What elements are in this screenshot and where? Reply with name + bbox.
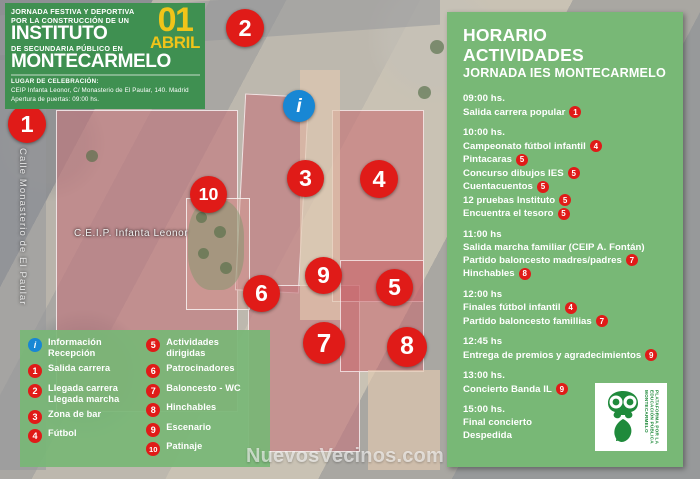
owl-leaf-icon <box>604 389 642 445</box>
schedule-item-label: Entrega de premios y agradecimientos <box>463 350 641 361</box>
legend-badge-8: 8 <box>146 403 160 417</box>
schedule-item: 12 pruebas Instituto5 <box>463 194 671 206</box>
legend-badge-i: i <box>28 338 42 352</box>
schedule-group-2: 11:00 hsSalida marcha familiar (CEIP A. … <box>463 229 671 280</box>
legend-item-8: 8Hinchables <box>146 402 262 417</box>
schedule-item-label: Finales fútbol infantil <box>463 302 561 313</box>
schedule-item-badge-1: 1 <box>569 106 581 118</box>
header-montecarmelo: MONTECARMELO <box>11 53 148 72</box>
schedule-item-badge-5: 5 <box>516 154 528 166</box>
schedule-item-label: Hinchables <box>463 268 515 279</box>
venue-address: CEIP Infanta Leonor, C/ Monasterio de El… <box>11 87 200 96</box>
schedule-item-badge-9: 9 <box>556 383 568 395</box>
map-marker-9[interactable]: 9 <box>305 257 342 294</box>
map-tree <box>198 248 209 259</box>
legend-label: Patinaje <box>166 441 202 452</box>
map-marker-10[interactable]: 10 <box>190 176 227 213</box>
venue-title: LUGAR DE CELEBRACIÓN: <box>11 78 200 87</box>
schedule-item-label: Salida marcha familiar (CEIP A. Fontán) <box>463 242 645 253</box>
organization-logo: MONTECARMELO EDUCACIÓN PÚBLICA PLATAFORM… <box>595 383 667 451</box>
schedule-item-label: Concierto Banda IL <box>463 384 552 395</box>
header-instituto: INSTITUTO <box>11 25 148 44</box>
legend-label: Escenario <box>166 422 211 433</box>
legend-item-10: 10Patinaje <box>146 441 262 456</box>
legend-badge-2: 2 <box>28 384 42 398</box>
legend-column-left: iInformaciónRecepción1Salida carrera2Lle… <box>28 337 138 460</box>
header-line-1: JORNADA FESTIVA Y DEPORTIVA <box>11 7 148 16</box>
schedule-time: 10:00 hs. <box>463 127 671 138</box>
schedule-item-badge-8: 8 <box>519 268 531 280</box>
schedule-time: 09:00 hs. <box>463 93 671 104</box>
schedule-item: Partido baloncesto madres/padres7 <box>463 254 671 266</box>
map-marker-i[interactable]: i <box>283 90 315 122</box>
schedule-item: Cuentacuentos5 <box>463 181 671 193</box>
schedule-group-0: 09:00 hs.Salida carrera popular1 <box>463 93 671 118</box>
schedule-item: Salida carrera popular1 <box>463 106 671 118</box>
header-divider <box>11 74 200 76</box>
legend-item-7: 7Baloncesto - WC <box>146 383 262 398</box>
schedule-item-label: 12 pruebas Instituto <box>463 195 555 206</box>
schedule-group-1: 10:00 hs.Campeonato fútbol infantil4Pint… <box>463 127 671 220</box>
legend-badge-5: 5 <box>146 338 160 352</box>
schedule-time: 12:45 hs <box>463 336 671 347</box>
legend-badge-1: 1 <box>28 364 42 378</box>
map-tree <box>430 40 444 54</box>
map-tree <box>220 262 232 274</box>
schedule-item-label: Partido baloncesto madres/padres <box>463 255 622 266</box>
legend-badge-7: 7 <box>146 384 160 398</box>
schedule-item-badge-4: 4 <box>565 302 577 314</box>
schedule-item: Campeonato fútbol infantil4 <box>463 140 671 152</box>
legend-item-6: 6Patrocinadores <box>146 363 262 378</box>
map-tree <box>214 226 226 238</box>
map-marker-6[interactable]: 6 <box>243 275 280 312</box>
legend-badge-6: 6 <box>146 364 160 378</box>
legend-item-2: 2Llegada carreraLlegada marcha <box>28 383 138 405</box>
schedule-item-label: Campeonato fútbol infantil <box>463 141 586 152</box>
map-marker-1[interactable]: 1 <box>8 105 46 143</box>
legend-label: Actividadesdirigidas <box>166 337 219 359</box>
schedule-time: 13:00 hs. <box>463 370 671 381</box>
legend-label: Zona de bar <box>48 409 101 420</box>
event-month: ABRIL <box>150 34 200 51</box>
map-marker-4[interactable]: 4 <box>360 160 398 198</box>
legend-badge-9: 9 <box>146 423 160 437</box>
map-tree <box>86 150 98 162</box>
schedule-item: Finales fútbol infantil4 <box>463 302 671 314</box>
map-marker-8[interactable]: 8 <box>387 327 427 367</box>
legend-item-5: 5Actividadesdirigidas <box>146 337 262 359</box>
logo-line-3: MONTECARMELO <box>644 390 649 444</box>
schedule-item-badge-7: 7 <box>596 315 608 327</box>
schedule-item-badge-5: 5 <box>559 194 571 206</box>
schedule-item: Concurso dibujos IES5 <box>463 167 671 179</box>
schedule-item-label: Salida carrera popular <box>463 107 565 118</box>
schedule-group-4: 12:45 hsEntrega de premios y agradecimie… <box>463 336 671 361</box>
schedule-item-badge-9: 9 <box>645 349 657 361</box>
schedule-item: Hinchables8 <box>463 268 671 280</box>
legend-badge-4: 4 <box>28 429 42 443</box>
schedule-item: Entrega de premios y agradecimientos9 <box>463 349 671 361</box>
legend-label: Salida carrera <box>48 363 110 374</box>
schedule-item: Salida marcha familiar (CEIP A. Fontán) <box>463 242 671 253</box>
map-legend: iInformaciónRecepción1Salida carrera2Lle… <box>20 330 270 467</box>
schedule-subtitle: JORNADA IES MONTECARMELO <box>463 66 671 80</box>
map-marker-2[interactable]: 2 <box>226 9 264 47</box>
venue-doors: Apertura de puertas: 09:00 hs. <box>11 96 200 105</box>
legend-label: Fútbol <box>48 428 77 439</box>
schedule-item-badge-5: 5 <box>558 208 570 220</box>
event-day: 01 <box>150 7 200 34</box>
schedule-item: Pintacaras5 <box>463 154 671 166</box>
schedule-item-label: Encuentra el tesoro <box>463 208 554 219</box>
schedule-item-label: Partido baloncesto famillias <box>463 316 592 327</box>
legend-column-right: 5Actividadesdirigidas6Patrocinadores7Bal… <box>146 337 262 460</box>
legend-label: Patrocinadores <box>166 363 234 374</box>
event-header: JORNADA FESTIVA Y DEPORTIVA POR LA CONST… <box>5 3 205 109</box>
legend-label: Baloncesto - WC <box>166 383 241 394</box>
map-marker-7[interactable]: 7 <box>303 322 345 364</box>
schedule-panel: HORARIO ACTIVIDADES JORNADA IES MONTECAR… <box>447 12 683 467</box>
schedule-item-badge-5: 5 <box>537 181 549 193</box>
poster-root: C.E.I.P. Infanta Leonor Calle Monasterio… <box>0 0 700 479</box>
legend-item-4: 4Fútbol <box>28 428 138 443</box>
legend-label: InformaciónRecepción <box>48 337 102 359</box>
schedule-item-badge-4: 4 <box>590 140 602 152</box>
legend-badge-3: 3 <box>28 410 42 424</box>
map-yard-lower <box>368 370 440 470</box>
schedule-item-label: Concurso dibujos IES <box>463 168 564 179</box>
schedule-item: Partido baloncesto famillias7 <box>463 315 671 327</box>
map-street-label: Calle Monasterio de El Paular <box>17 148 28 306</box>
legend-item-1: 1Salida carrera <box>28 363 138 378</box>
map-marker-3[interactable]: 3 <box>287 160 324 197</box>
schedule-item-label: Despedida <box>463 430 512 441</box>
schedule-item-label: Pintacaras <box>463 154 512 165</box>
map-tree <box>196 212 207 223</box>
schedule-time: 12:00 hs <box>463 289 671 300</box>
schedule-title: HORARIO ACTIVIDADES <box>463 26 671 65</box>
logo-line-1: PLATAFORMA POR LA <box>654 390 659 444</box>
schedule-item-label: Final concierto <box>463 417 532 428</box>
map-marker-5[interactable]: 5 <box>376 269 413 306</box>
legend-label: Hinchables <box>166 402 216 413</box>
map-tree <box>418 86 431 99</box>
legend-item-i: iInformaciónRecepción <box>28 337 138 359</box>
schedule-item-badge-7: 7 <box>626 254 638 266</box>
schedule-time: 11:00 hs <box>463 229 671 240</box>
schedule-item-label: Cuentacuentos <box>463 181 533 192</box>
schedule-item: Encuentra el tesoro5 <box>463 208 671 220</box>
schedule-item-badge-5: 5 <box>568 167 580 179</box>
legend-label: Llegada carreraLlegada marcha <box>48 383 119 405</box>
legend-item-3: 3Zona de bar <box>28 409 138 424</box>
schedule-group-3: 12:00 hsFinales fútbol infantil4Partido … <box>463 289 671 328</box>
legend-badge-10: 10 <box>146 442 160 456</box>
logo-line-2: EDUCACIÓN PÚBLICA <box>649 390 654 444</box>
legend-item-9: 9Escenario <box>146 422 262 437</box>
